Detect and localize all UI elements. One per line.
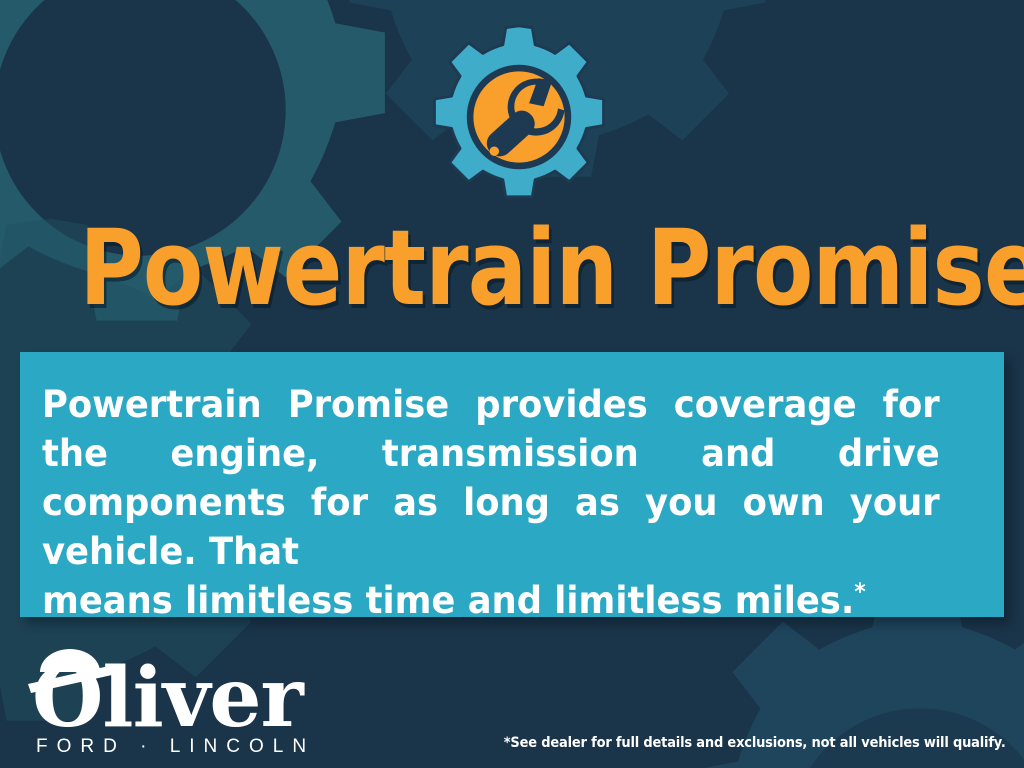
oliver-logo-subtitle: FORD · LINCOLN [36,736,315,758]
powertrain-promise-poster: Powertrain Promise Powertrain Promise pr… [0,0,1024,768]
disclaimer-text: *See dealer for full details and exclusi… [504,735,1006,751]
oliver-wordmark: Oliver [26,640,326,736]
page-title: Powertrain Promise [79,216,944,320]
coverage-lastline-text: means limitless time and limitless miles… [42,579,854,622]
coverage-panel: Powertrain Promise provides coverage for… [20,352,1004,617]
gear-with-wrench-icon [424,22,614,212]
coverage-description: Powertrain Promise provides coverage for… [42,380,940,625]
footnote-asterisk: * [854,580,865,606]
coverage-description-main: Powertrain Promise provides coverage for… [42,383,940,573]
svg-text:Oliver: Oliver [32,650,306,736]
coverage-description-lastline: means limitless time and limitless miles… [42,576,940,625]
